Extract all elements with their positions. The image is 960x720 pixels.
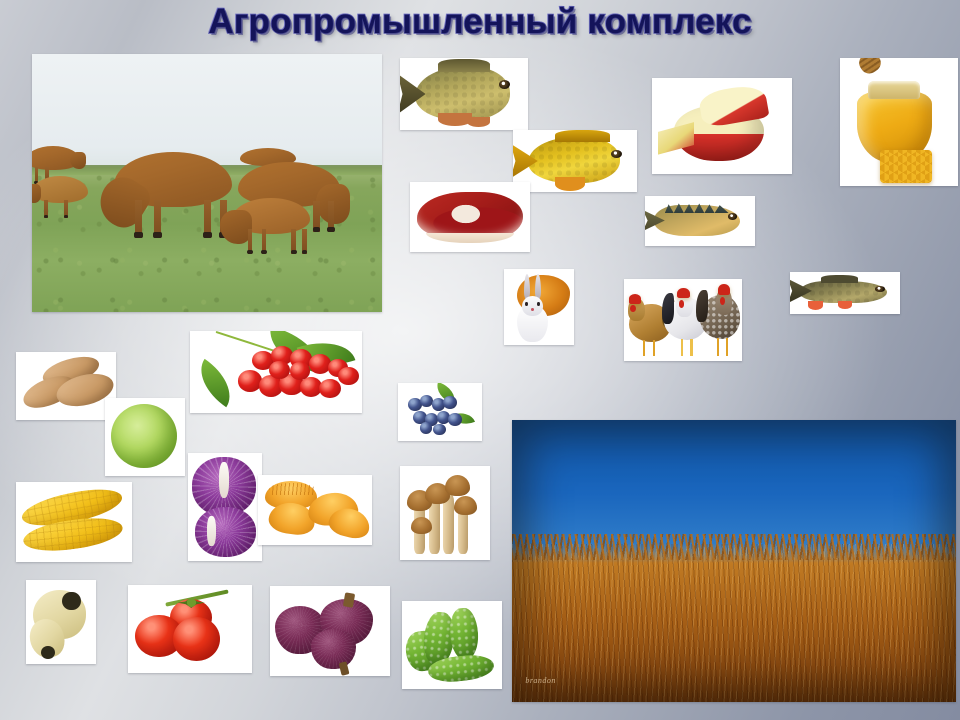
photo-green-cabbage[interactable] [105,398,185,476]
photo-honey-jar[interactable] [840,58,958,186]
mushroom-icon [454,496,477,515]
turnip-top [62,592,80,610]
photo-blueberries[interactable] [398,383,482,441]
page-title: Агропромышленный комплекс [0,2,960,42]
meat-icon [417,192,523,242]
onion-icon [311,629,357,669]
photo-corn[interactable] [16,482,132,562]
mushroom-icon [445,475,470,496]
photo-beef-steak[interactable] [410,182,530,252]
photo-tomatoes[interactable] [128,585,252,673]
photo-honey-mushrooms[interactable] [400,466,490,560]
photo-minnow-fish[interactable] [790,272,900,314]
photo-red-cabbage[interactable] [188,453,262,561]
berry-icon [269,361,290,379]
photo-potatoes[interactable] [16,352,116,420]
mushroom-stem [443,494,454,554]
watermark: brandon [525,676,556,685]
fish-icon [400,58,528,130]
cabbage-core [207,516,216,546]
photo-carp-top[interactable] [400,58,528,130]
chicken-icon [700,286,740,357]
rabbit-icon [511,283,554,342]
presentation-slide: Агропромышленный комплекс [0,0,960,720]
blueberry-icon [443,396,456,409]
wheat-icon [512,544,956,702]
photo-cucumbers[interactable] [402,601,502,689]
fish-icon [645,196,755,246]
tomato-icon [173,617,220,661]
leaf-icon [190,359,242,407]
red-cabbage-icon [195,507,256,557]
photo-chickens[interactable] [624,279,742,361]
photo-cattle-pasture[interactable] [32,54,382,312]
photo-wheat-field[interactable]: brandon [512,420,956,702]
cow-icon [114,152,232,238]
blueberry-icon [448,413,461,426]
blueberry-icon [420,422,433,434]
photo-rabbit[interactable] [504,269,574,345]
cabbage-core [219,462,229,499]
fish-icon [513,130,637,192]
berry-icon [338,367,359,385]
honeycomb-icon [880,150,932,183]
photo-perch-fish[interactable] [645,196,755,246]
cabbage-icon [111,404,177,468]
berry-icon [319,379,341,399]
photo-cheese-wheel[interactable] [652,78,792,174]
jar-neck [868,81,920,99]
cucumber-icon [448,607,479,660]
photo-red-currants[interactable] [190,331,362,413]
photo-red-onions[interactable] [270,586,390,676]
calf-icon [232,198,310,254]
photo-chanterelles[interactable] [258,475,372,545]
photo-carp-gold[interactable] [513,130,637,192]
cow-icon [32,176,88,218]
fish-icon [790,272,900,314]
blueberry-icon [433,424,446,436]
turnip-root [41,646,55,659]
photo-turnip[interactable] [26,580,96,664]
mushroom-icon [411,517,433,534]
chanterelle-gills [269,483,315,494]
